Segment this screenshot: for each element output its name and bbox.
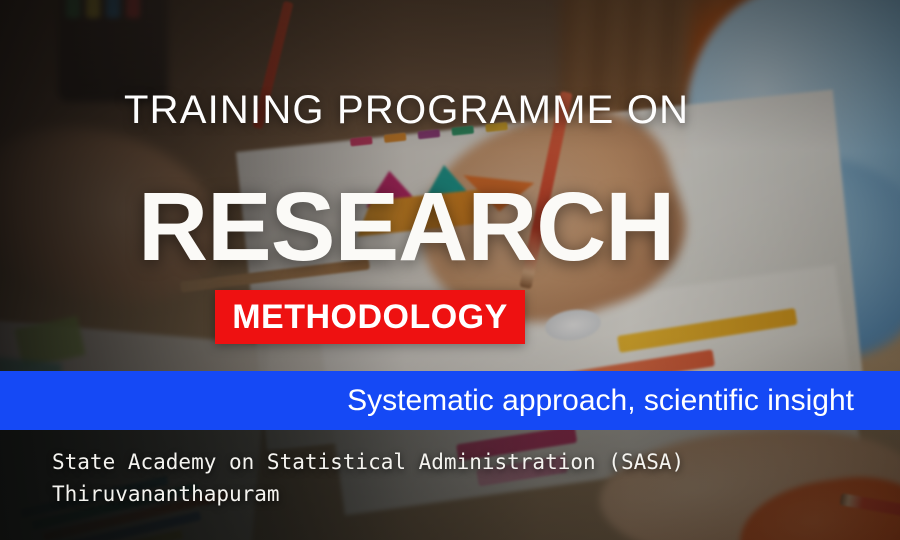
organiser-name: State Academy on Statistical Administrat…: [52, 446, 684, 478]
methodology-badge: METHODOLOGY: [215, 290, 525, 344]
organiser-location: Thiruvananthapuram: [52, 478, 684, 510]
training-programme-banner: TRAINING PROGRAMME ON RESEARCH METHODOLO…: [0, 0, 900, 540]
tagline-band: Systematic approach, scientific insight: [0, 371, 900, 430]
kicker-text: TRAINING PROGRAMME ON: [124, 88, 689, 133]
methodology-badge-label: METHODOLOGY: [232, 298, 508, 337]
organiser-footer: State Academy on Statistical Administrat…: [52, 446, 684, 510]
page-title: RESEARCH: [138, 178, 674, 275]
tagline-text: Systematic approach, scientific insight: [347, 384, 854, 418]
banner-content: TRAINING PROGRAMME ON RESEARCH METHODOLO…: [0, 0, 900, 540]
